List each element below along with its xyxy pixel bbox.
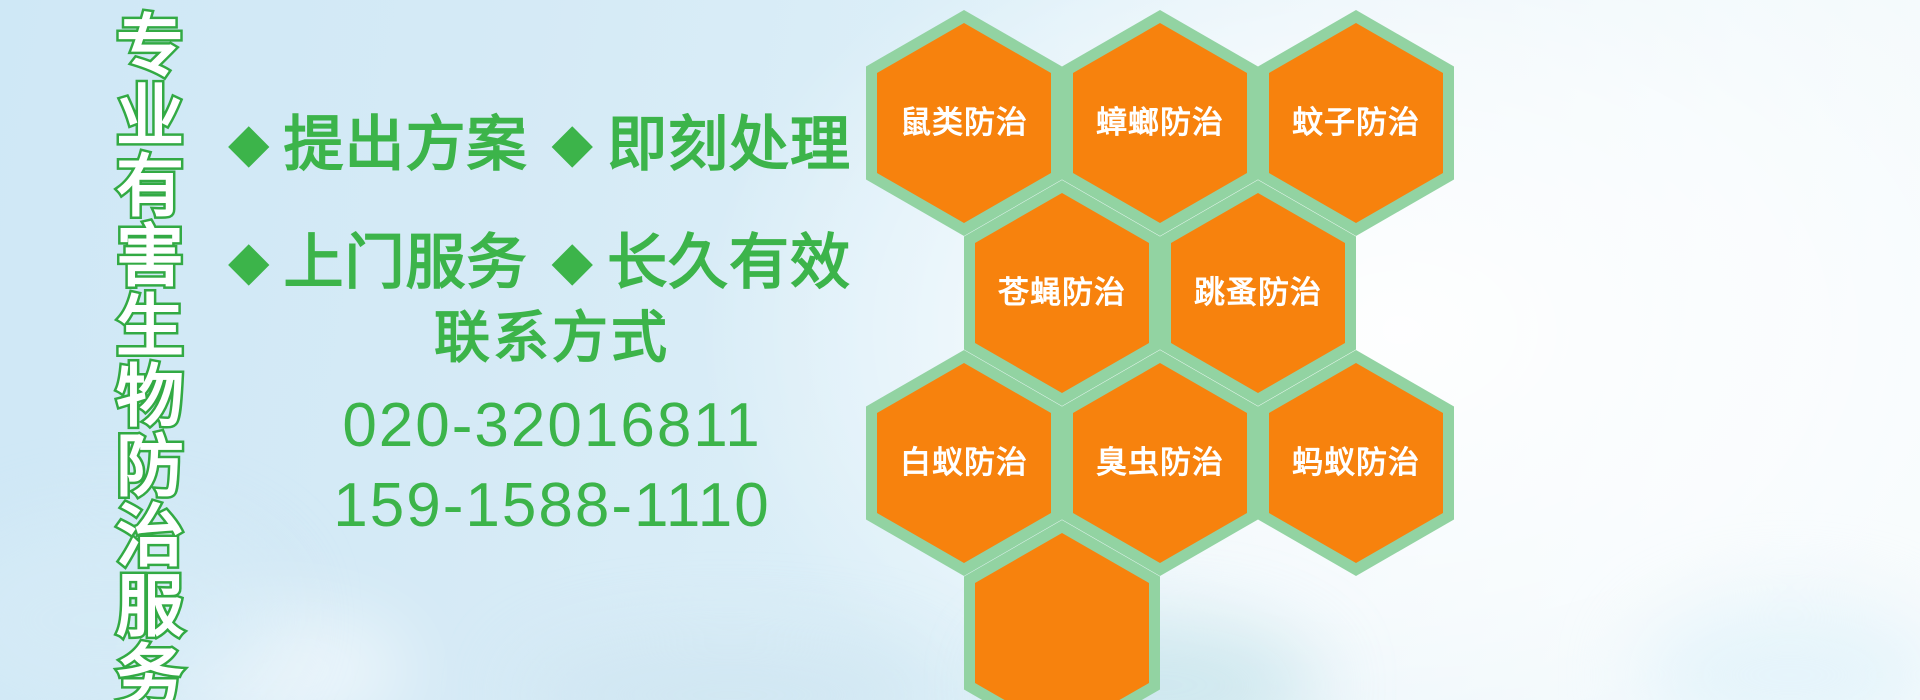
diamond-bullet-icon: ◆ [228,234,270,288]
hex-inner: 跳蚤防治 [1171,193,1345,393]
service-hex-label: 蟑螂防治 [1096,106,1224,140]
service-hex-label: 白蚁防治 [900,446,1028,480]
feature-label: 提出方案 [284,114,528,176]
vertical-headline-char: 害 [116,222,184,292]
hex-inner: 蚂蚁防治 [1269,363,1443,563]
background-haze [150,610,410,700]
service-honeycomb-grid: 鼠类防治 蟑螂防治 蚊子防治 苍蝇防治 跳蚤防治 白蚁防治 [858,0,1478,700]
hex-inner: 苍蝇防治 [975,193,1149,393]
vertical-headline-char: 生 [116,292,184,362]
background-haze [1640,600,1920,700]
service-hex-label: 鼠类防治 [900,106,1028,140]
phone-number-landline[interactable]: 020-32016811 [232,386,872,466]
hex-inner: 鼠类防治 [877,23,1051,223]
promo-banner: 专 业 有 害 生 物 防 治 服 务 ◆ 提出方案 ◆ 即刻处理 ◆ 上门服务 [0,0,1920,700]
vertical-headline-char: 务 [116,642,184,700]
hex-inner [975,533,1149,700]
phone-number-mobile[interactable]: 159-1588-1110 [232,466,872,546]
hex-inner: 臭虫防治 [1073,363,1247,563]
service-hex-label: 跳蚤防治 [1194,276,1322,310]
vertical-headline-char: 有 [116,152,184,222]
diamond-bullet-icon: ◆ [228,116,270,170]
service-hex-label: 蚊子防治 [1292,106,1420,140]
service-hex-label: 蚂蚁防治 [1292,446,1420,480]
feature-item-immediate-handling: ◆ 即刻处理 [552,114,852,176]
feature-item-long-lasting: ◆ 长久有效 [552,232,852,294]
vertical-headline: 专 业 有 害 生 物 防 治 服 务 [104,12,196,572]
feature-item-propose-plan: ◆ 提出方案 [228,114,528,176]
hex-inner: 蚊子防治 [1269,23,1443,223]
service-hex-label: 苍蝇防治 [998,276,1126,310]
vertical-headline-char: 治 [116,502,184,572]
feature-row: ◆ 上门服务 ◆ 长久有效 [228,204,868,322]
feature-label: 即刻处理 [607,114,851,176]
vertical-headline-char: 专 [116,12,184,82]
hex-inner: 白蚁防治 [877,363,1051,563]
vertical-headline-char: 防 [116,432,184,502]
diamond-bullet-icon: ◆ [552,116,594,170]
feature-list: ◆ 提出方案 ◆ 即刻处理 ◆ 上门服务 ◆ 长久有效 [228,86,868,322]
vertical-headline-char: 物 [116,362,184,432]
feature-label: 上门服务 [284,232,528,294]
hex-inner: 蟑螂防治 [1073,23,1247,223]
contact-title: 联系方式 [232,306,872,370]
feature-row: ◆ 提出方案 ◆ 即刻处理 [228,86,868,204]
service-hex-label: 臭虫防治 [1096,446,1224,480]
feature-label: 长久有效 [607,232,851,294]
diamond-bullet-icon: ◆ [552,234,594,288]
vertical-headline-char: 业 [116,82,184,152]
vertical-headline-char: 服 [116,572,184,642]
contact-block: 联系方式 020-32016811 159-1588-1110 [232,306,872,546]
feature-item-onsite-service: ◆ 上门服务 [228,232,528,294]
